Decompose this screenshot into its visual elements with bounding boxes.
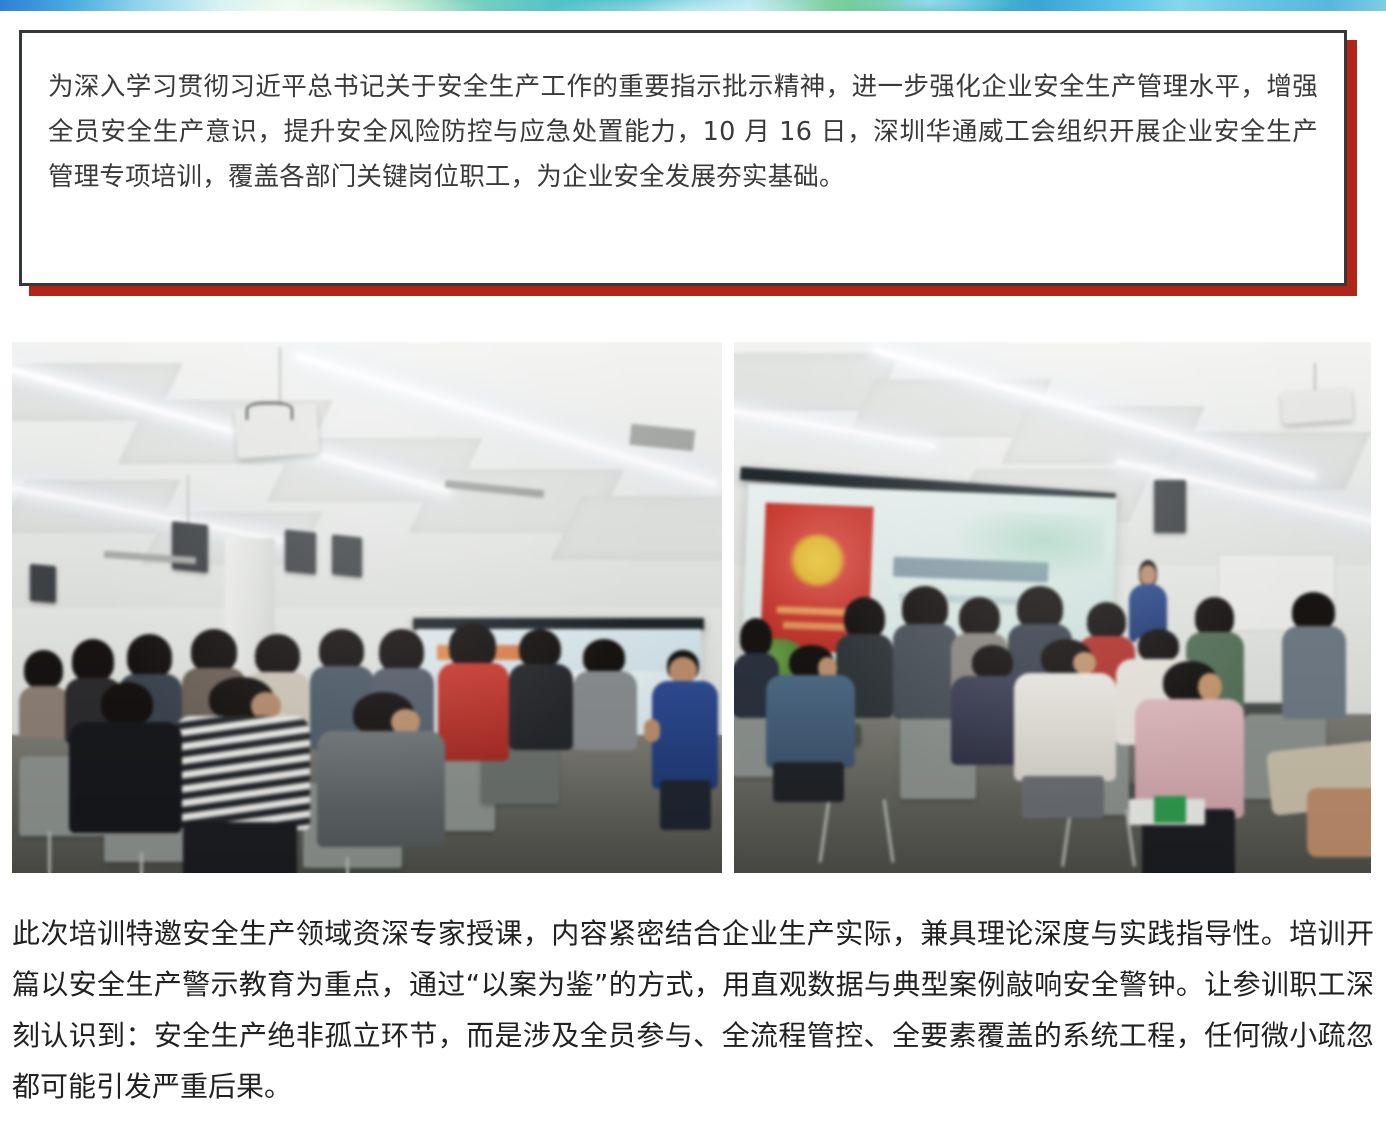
attendee-striped-shirt — [175, 677, 310, 873]
attendee — [1282, 592, 1346, 714]
ceiling-projector — [1281, 387, 1353, 424]
attendee — [573, 639, 637, 745]
intro-card: 为深入学习贯彻习近平总书记关于安全生产工作的重要指示批示精神，进一步强化企业安全… — [19, 30, 1347, 286]
wall-speaker — [332, 534, 362, 577]
notebook-cover — [1154, 796, 1186, 823]
wall-speaker — [30, 564, 56, 603]
body-paragraph: 此次培训特邀安全生产领域资深专家授课，内容紧密结合企业生产实际，兼具理论深度与实… — [12, 908, 1374, 1112]
attendee-arm — [1307, 788, 1371, 857]
attendee-white-shirt — [1014, 639, 1116, 814]
photo-right[interactable] — [734, 342, 1371, 873]
attendee-red-shirt — [438, 623, 509, 756]
slide-graphic — [948, 509, 1106, 582]
attendee — [69, 682, 183, 863]
wall-speaker — [285, 529, 316, 575]
presenter — [651, 650, 722, 831]
attendee-blue-shirt — [766, 645, 855, 799]
wall-speaker — [1154, 480, 1186, 533]
attendee — [317, 692, 445, 873]
attendee — [19, 650, 69, 735]
photo-left[interactable] — [12, 342, 722, 873]
intro-card-box: 为深入学习贯彻习近平总书记关于安全生产工作的重要指示批示精神，进一步强化企业安全… — [19, 30, 1347, 286]
photo-gallery — [12, 342, 1371, 873]
intro-paragraph: 为深入学习贯彻习近平总书记关于安全生产工作的重要指示批示精神，进一步强化企业安全… — [48, 65, 1318, 200]
wall-speaker — [172, 521, 208, 573]
projector-stem — [279, 347, 281, 405]
top-decorative-banner — [0, 0, 1386, 11]
attendee — [893, 586, 957, 713]
attendee-pink-shirt — [1135, 661, 1243, 873]
attendee — [509, 629, 573, 746]
banner-light-wash — [0, 0, 1386, 11]
projector-cable — [246, 402, 293, 420]
ceiling-panel — [550, 496, 722, 560]
